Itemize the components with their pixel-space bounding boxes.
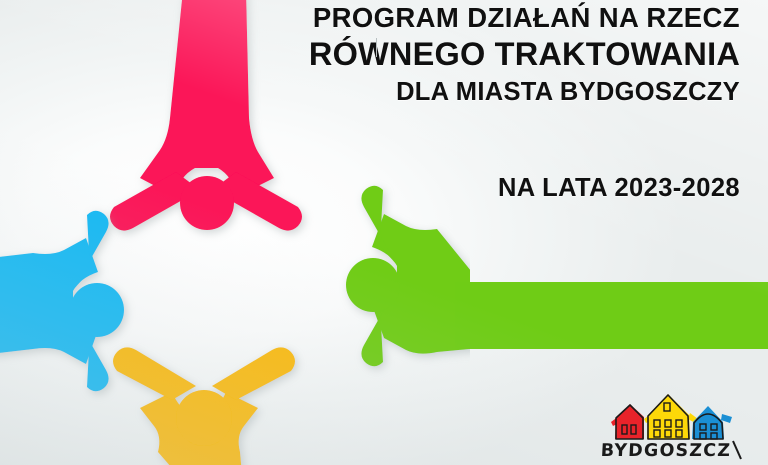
years-range-text: NA LATA 2023-2028 [498, 174, 740, 203]
headline-line-1: PROGRAM DZIAŁAŃ NA RZECZ [309, 4, 740, 32]
decorative-tick-rule [376, 38, 377, 57]
green-band-extension [455, 282, 768, 349]
house-yellow-icon [644, 394, 698, 439]
figure-right-green [346, 186, 470, 367]
house-red-icon [611, 404, 644, 439]
headline-line-2: RÓWNEGO TRAKTOWANIA [309, 38, 740, 71]
bydgoszcz-city-logo: BYDGOSZCZ [594, 389, 750, 461]
figure-top-pink [110, 0, 302, 231]
poster-canvas: PROGRAM DZIAŁAŃ NA RZECZ RÓWNEGO TRAKTOW… [0, 0, 768, 465]
headline-line-3: DLA MIASTA BYDGOSZCZY [309, 79, 740, 105]
headline-block: PROGRAM DZIAŁAŃ NA RZECZ RÓWNEGO TRAKTOW… [309, 4, 740, 105]
figure-bottom-orange [113, 347, 295, 465]
logo-slash-stroke [733, 441, 741, 459]
city-logo-wordmark: BYDGOSZCZ [600, 441, 731, 461]
house-blue-icon [692, 406, 732, 439]
figure-left-blue [0, 211, 124, 392]
